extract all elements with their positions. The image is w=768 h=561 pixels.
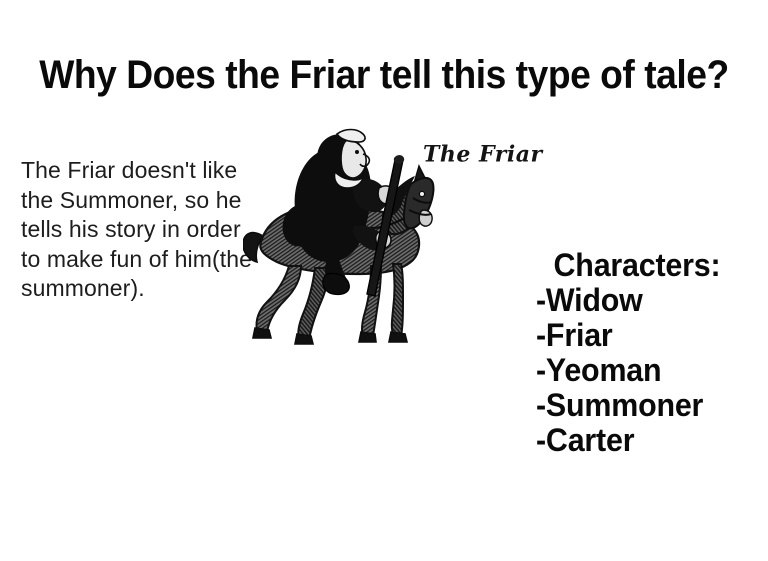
characters-list: -Widow -Friar -Yeoman -Summoner -Carter xyxy=(512,283,762,458)
body-paragraph: The Friar doesn't like the Summoner, so … xyxy=(21,156,253,304)
friar-on-horseback-illustration xyxy=(243,114,435,352)
list-item: -Carter xyxy=(536,423,751,458)
list-item: -Friar xyxy=(536,318,751,353)
characters-block: Characters: -Widow -Friar -Yeoman -Summo… xyxy=(512,247,762,458)
list-item: -Summoner xyxy=(536,388,751,423)
friar-woodcut-icon xyxy=(243,114,435,352)
illustration-caption: The Friar xyxy=(423,142,543,166)
page-title: Why Does the Friar tell this type of tal… xyxy=(27,51,741,99)
list-item: -Yeoman xyxy=(536,353,751,388)
characters-heading: Characters: xyxy=(518,247,756,283)
slide-canvas: Why Does the Friar tell this type of tal… xyxy=(0,0,768,561)
list-item: -Widow xyxy=(536,283,751,318)
